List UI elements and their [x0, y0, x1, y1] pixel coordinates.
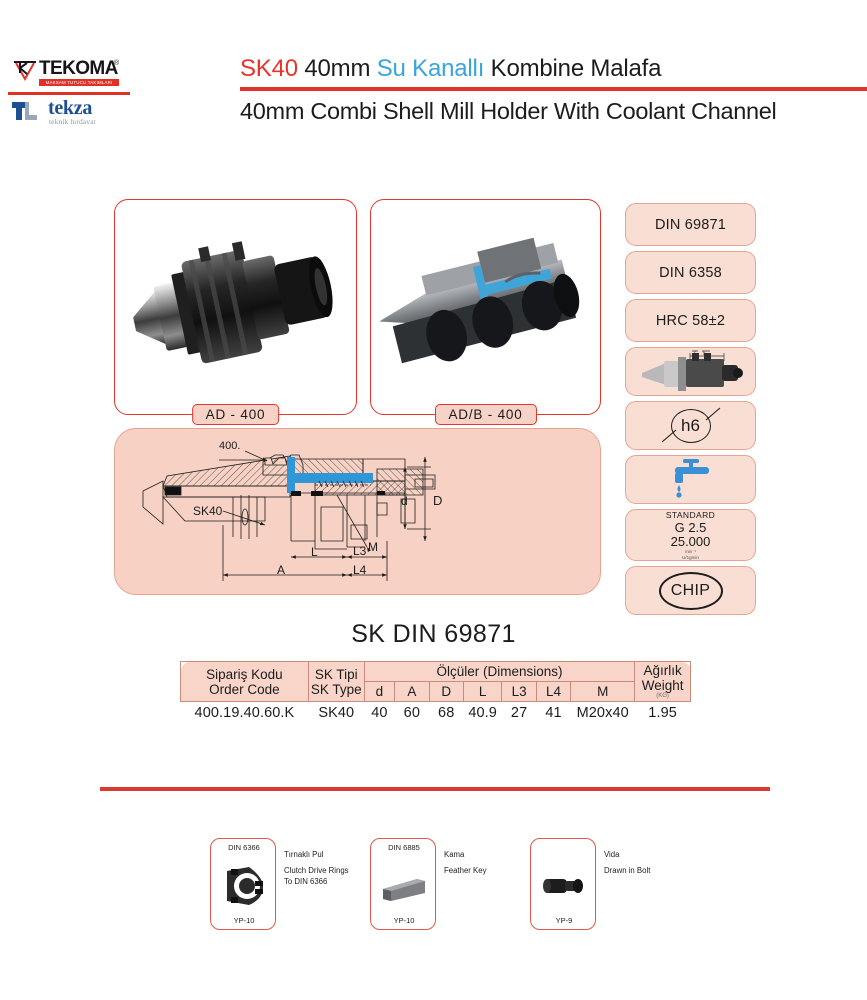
badge-balance-standard: STANDARD G 2.5 25.000 min⁻¹ U/1gmin [625, 509, 756, 561]
product-photo-ad-image [115, 200, 356, 414]
badge-hardness-hrc: HRC 58±2 [625, 299, 756, 342]
balance-rpm: 25.000 [671, 535, 711, 549]
col-A: A [395, 682, 429, 702]
badge-tolerance-h6: h6 [625, 401, 756, 450]
accessory-din-label: DIN 6366 [211, 843, 277, 852]
technical-drawing-svg: 400. SK40 M d D L A L3 L4 [115, 429, 600, 594]
cell-order-code: 400.19.40.60.K [181, 702, 309, 725]
badge-din-69871: DIN 69871 [625, 203, 756, 246]
accessory-code: YP-10 [371, 916, 437, 925]
accessory-name-tr: Vida [604, 847, 754, 862]
page-header: TEKOMA ® MAKSAM TUTUCU TAKIMLARI tekza t… [0, 52, 867, 138]
table-header-row-1: Sipariş Kodu Order Code SK Tipi SK Type … [181, 662, 691, 682]
col-M: M [571, 682, 635, 702]
col-sk-type: SK Tipi SK Type [308, 662, 364, 702]
drawing-label-M: M [368, 540, 378, 554]
cell-L4: 41 [536, 702, 570, 725]
title-coolant-tr: Su Kanallı [377, 55, 484, 82]
accessory-item-drawn-in-bolt: YP-9 Vida Drawn in Bolt [530, 833, 760, 938]
col-L: L [463, 682, 501, 702]
col-weight-unit: (KG) [637, 693, 688, 700]
tekoma-wordmark: TEKOMA [39, 58, 118, 80]
drawing-label-L4: L4 [353, 563, 367, 577]
tekoma-mark-icon [12, 59, 38, 83]
tool-holder-dimension-icon: 7 5 [632, 347, 750, 396]
table-body: 400.19.40.60.K SK40 40 60 68 40.9 27 41 … [181, 702, 691, 725]
logo-group: TEKOMA ® MAKSAM TUTUCU TAKIMLARI tekza t… [8, 54, 130, 136]
cell-L3: 27 [502, 702, 536, 725]
balance-unit-2: U/1gmin [682, 555, 699, 561]
accessory-din-label: DIN 6885 [371, 843, 437, 852]
drawing-label-D: D [433, 493, 442, 508]
section-divider [100, 787, 770, 791]
title-type-tr: Kombine Malafa [491, 55, 662, 82]
title-block: SK40 40mm Su Kanallı Kombine Malafa 40mm… [240, 52, 867, 138]
col-order-code-tr: Sipariş Kodu [183, 667, 306, 682]
badge-din-6358: DIN 6358 [625, 251, 756, 294]
badge-label: DIN 6358 [659, 265, 722, 281]
product-title-turkish: SK40 40mm Su Kanallı Kombine Malafa [240, 52, 867, 86]
col-sk-type-tr: SK Tipi [311, 667, 362, 682]
balance-grade: G 2.5 [675, 521, 707, 535]
badge-label: CHIP [671, 582, 710, 600]
badge-tool-holder-dimension: 7 5 [625, 347, 756, 396]
col-order-code-en: Order Code [183, 682, 306, 697]
tekoma-logo: TEKOMA ® MAKSAM TUTUCU TAKIMLARI [12, 58, 128, 90]
accessory-card: YP-9 [530, 838, 596, 930]
accessory-name-en: Drawn in Bolt [604, 866, 754, 877]
cell-sk-type: SK40 [308, 702, 364, 725]
cell-L: 40.9 [463, 702, 501, 725]
col-D: D [429, 682, 463, 702]
specification-table: Sipariş Kodu Order Code SK Tipi SK Type … [180, 661, 691, 724]
product-photo-panel-adb: AD/B - 400 [370, 199, 601, 415]
table-row: 400.19.40.60.K SK40 40 60 68 40.9 27 41 … [181, 702, 691, 725]
cell-d: 40 [364, 702, 394, 725]
badge-coolant-channel [625, 455, 756, 504]
table-title: SK DIN 69871 [0, 620, 867, 649]
badge-label: HRC 58±2 [656, 313, 725, 329]
cell-D: 68 [429, 702, 463, 725]
product-title-english: 40mm Combi Shell Mill Holder With Coolan… [240, 93, 867, 129]
cell-weight: 1.95 [635, 702, 691, 725]
accessory-card: DIN 6885 YP-10 [370, 838, 436, 930]
accessory-code: YP-10 [211, 916, 277, 925]
col-weight-tr: Ağırlık [637, 663, 688, 678]
drawing-label-taper: SK40 [193, 504, 223, 518]
tekza-mark-icon [12, 100, 46, 122]
logo-divider-rule [8, 92, 130, 95]
tekza-tagline: teknik hırdavat [49, 117, 96, 126]
clutch-drive-ring-icon [219, 861, 269, 911]
tekoma-tagline: MAKSAM TUTUCU TAKIMLARI [39, 79, 119, 86]
accessory-code: YP-9 [531, 916, 597, 925]
coolant-faucet-icon [661, 455, 721, 504]
specification-badge-column: DIN 69871 DIN 6358 HRC 58±2 7 5 [625, 203, 756, 620]
tekoma-registered-mark: ® [114, 60, 119, 67]
col-sk-type-en: SK Type [311, 682, 362, 697]
col-weight-en: Weight [637, 678, 688, 693]
accessories-row: DIN 6366 YP-10 Tırnaklı Pul Clutch Drive… [0, 833, 867, 943]
col-L4: L4 [536, 682, 570, 702]
product-photo-adb-image [371, 200, 600, 414]
col-L3: L3 [502, 682, 536, 702]
photo-caption-adb: AD/B - 400 [434, 404, 536, 425]
cell-A: 60 [395, 702, 429, 725]
photo-caption-ad: AD - 400 [192, 404, 280, 425]
drawing-label-series: 400. [219, 440, 240, 452]
col-weight: Ağırlık Weight (KG) [635, 662, 691, 702]
drawing-label-A: A [277, 563, 285, 577]
feather-key-icon [379, 861, 429, 911]
cell-M: M20x40 [571, 702, 635, 725]
badge-chip: CHIP [625, 566, 756, 615]
product-photo-panel-ad: AD - 400 [114, 199, 357, 415]
badge-label: DIN 69871 [655, 217, 726, 233]
title-size: 40mm [304, 55, 370, 82]
accessory-labels: Vida Drawn in Bolt [604, 847, 754, 877]
title-sk-code: SK40 [240, 55, 298, 82]
col-d: d [364, 682, 394, 702]
drawing-label-L3: L3 [353, 544, 367, 558]
technical-drawing-panel: 400. SK40 M d D L A L3 L4 [114, 428, 601, 595]
drawn-in-bolt-icon [539, 861, 589, 911]
accessory-card: DIN 6366 YP-10 [210, 838, 276, 930]
col-dimensions-group: Ölçüler (Dimensions) [364, 662, 634, 682]
chip-icon: CHIP [659, 572, 723, 610]
title-divider-rule [240, 87, 867, 91]
tekza-logo: tekza teknik hırdavat [12, 98, 128, 132]
drawing-label-L: L [311, 545, 318, 559]
col-order-code: Sipariş Kodu Order Code [181, 662, 309, 702]
table-header: Sipariş Kodu Order Code SK Tipi SK Type … [181, 662, 691, 702]
drawing-label-d: d [401, 494, 408, 508]
